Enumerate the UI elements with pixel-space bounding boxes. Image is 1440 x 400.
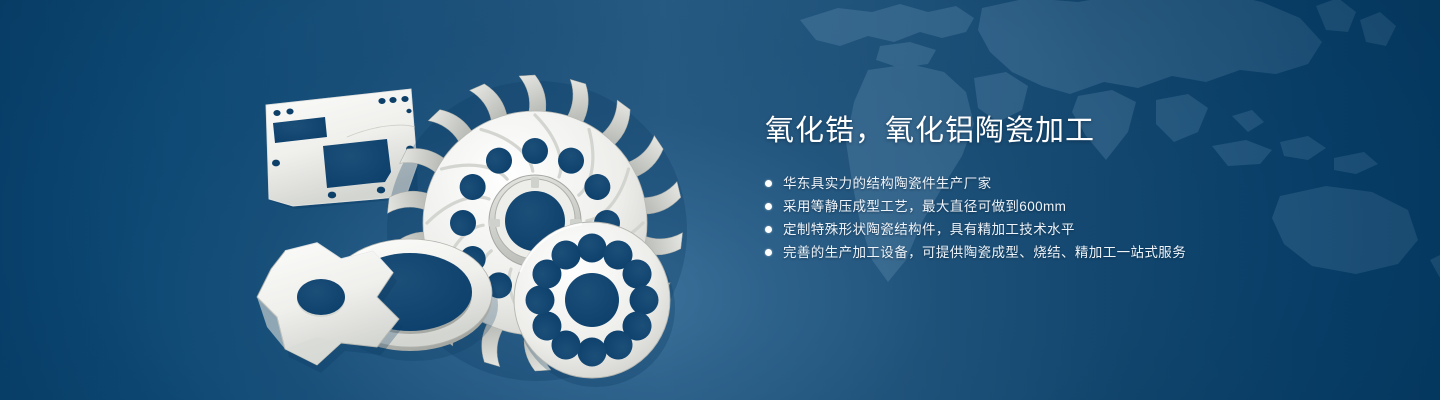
bullet-dot-icon: [765, 180, 772, 187]
list-item-label: 定制特殊形状陶瓷结构件，具有精加工技术水平: [783, 218, 1075, 241]
ceramic-cross-part: [257, 243, 403, 373]
list-item: 定制特殊形状陶瓷结构件，具有精加工技术水平: [765, 218, 1365, 241]
banner-copy: 氧化锆，氧化铝陶瓷加工 华东具实力的结构陶瓷件生产厂家 采用等静压成型工艺，最大…: [765, 112, 1365, 264]
list-item-label: 华东具实力的结构陶瓷件生产厂家: [783, 172, 992, 195]
feature-list: 华东具实力的结构陶瓷件生产厂家 采用等静压成型工艺，最大直径可做到600mm 定…: [765, 172, 1365, 264]
bullet-dot-icon: [765, 226, 772, 233]
hero-banner: 氧化锆，氧化铝陶瓷加工 华东具实力的结构陶瓷件生产厂家 采用等静压成型工艺，最大…: [0, 0, 1440, 400]
bullet-dot-icon: [765, 203, 772, 210]
list-item: 完善的生产加工设备，可提供陶瓷成型、烧结、精加工一站式服务: [765, 241, 1365, 264]
list-item-label: 采用等静压成型工艺，最大直径可做到600mm: [783, 195, 1066, 218]
bullet-dot-icon: [765, 249, 772, 256]
list-item: 采用等静压成型工艺，最大直径可做到600mm: [765, 195, 1365, 218]
banner-headline: 氧化锆，氧化铝陶瓷加工: [765, 112, 1365, 150]
list-item: 华东具实力的结构陶瓷件生产厂家: [765, 172, 1365, 195]
ceramic-components-photo: [235, 45, 685, 375]
list-item-label: 完善的生产加工设备，可提供陶瓷成型、烧结、精加工一站式服务: [783, 241, 1186, 264]
